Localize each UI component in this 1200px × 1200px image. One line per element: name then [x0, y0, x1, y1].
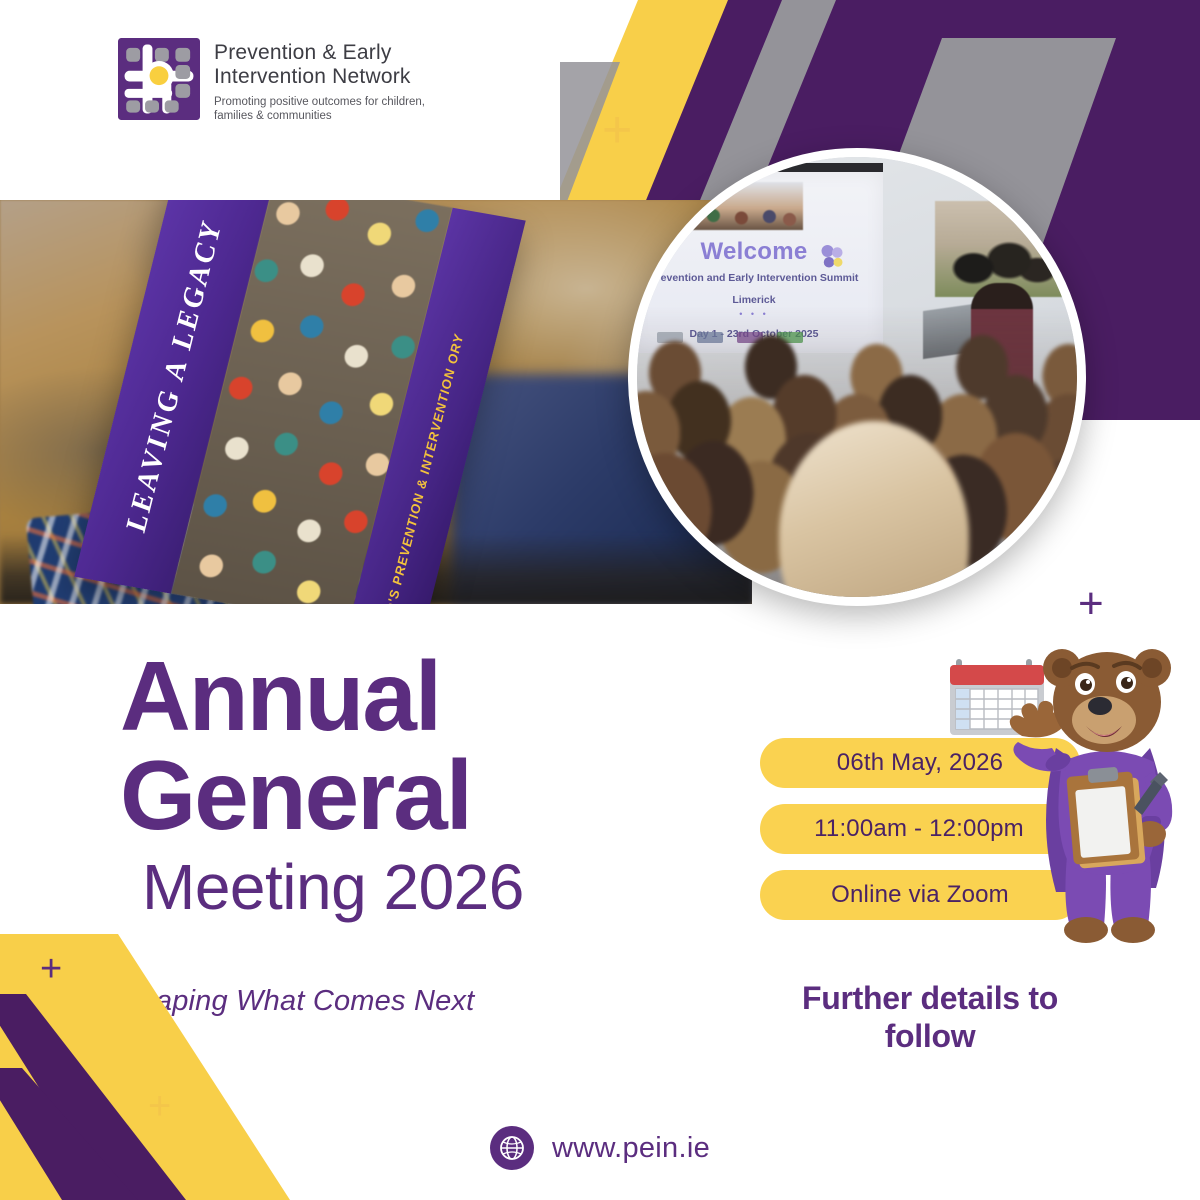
pein-grid-logo-icon — [118, 38, 200, 120]
logo-org-name: Prevention & Early Intervention Network — [214, 41, 425, 90]
headline-line-1: Annual — [120, 650, 524, 742]
logo-text-block: Prevention & Early Intervention Network … — [214, 38, 425, 124]
slide-flower-logo-icon — [817, 242, 847, 272]
poster-canvas: LEAVING A LEGACY D'S PREVENTION & INTERV… — [0, 0, 1200, 1200]
globe-icon — [490, 1126, 534, 1170]
slide-city: Limerick — [639, 294, 869, 306]
headline-line-2: General — [120, 746, 524, 844]
page-title: Annual General Meeting 2026 — [120, 650, 524, 921]
bear-mascot-icon — [1000, 630, 1200, 950]
logo-tagline: Promoting positive outcomes for children… — [214, 95, 425, 124]
globe-glyph — [498, 1134, 526, 1162]
footer-website[interactable]: www.pein.ie — [0, 1126, 1200, 1170]
further-details-note: Further details to follow — [760, 980, 1100, 1056]
plus-purple-left: + — [40, 950, 62, 988]
plus-yellow-top: + — [602, 104, 632, 156]
slide-inset-photo — [691, 182, 803, 230]
website-url[interactable]: www.pein.ie — [552, 1132, 710, 1165]
event-tagline: Shaping What Comes Next — [120, 985, 474, 1018]
plus-yellow-bottom: + — [148, 1086, 171, 1126]
headline-line-3: Meeting 2026 — [142, 854, 524, 921]
summit-circle-photo: Welcome Prevention and Early Interventio… — [628, 148, 1086, 606]
pein-logo[interactable]: Prevention & Early Intervention Network … — [118, 38, 425, 124]
slide-summit-name: Prevention and Early Intervention Summit — [639, 271, 869, 285]
plus-purple-right: + — [1078, 582, 1104, 626]
